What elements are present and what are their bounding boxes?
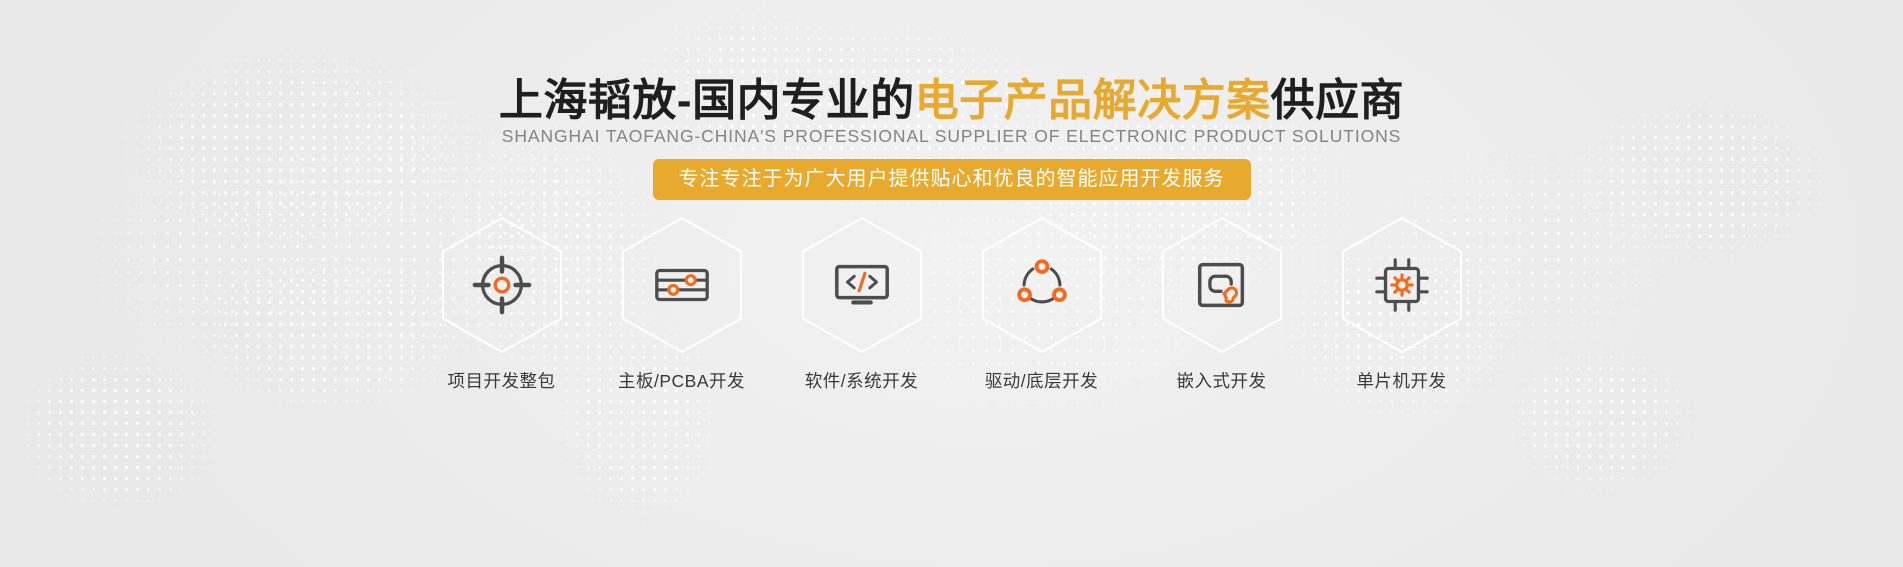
- hero-banner: 上海韬放-国内专业的电子产品解决方案供应商 SHANGHAI TAOFANG-C…: [0, 0, 1903, 567]
- chip-gear-icon: [1371, 254, 1433, 316]
- hexagon-frame: [620, 216, 744, 354]
- service-label: 项目开发整包: [448, 368, 556, 393]
- hexagon-frame: [800, 216, 924, 354]
- service-item-embedded[interactable]: 嵌入式开发: [1141, 216, 1303, 393]
- hexagon-frame: [440, 216, 564, 354]
- hexagon-frame: [1340, 216, 1464, 354]
- service-label: 单片机开发: [1357, 368, 1447, 393]
- network-nodes-icon: [1011, 254, 1073, 316]
- service-label: 嵌入式开发: [1177, 368, 1267, 393]
- hexagon-frame: [980, 216, 1104, 354]
- tagline-badge: 专注专注于为广大用户提供贴心和优良的智能应用开发服务: [653, 159, 1251, 200]
- embedded-link-icon: [1191, 254, 1253, 316]
- headline-part-2: 供应商: [1271, 76, 1405, 125]
- service-item-mcu[interactable]: 单片机开发: [1321, 216, 1483, 393]
- page-subtitle: SHANGHAI TAOFANG-CHINA'S PROFESSIONAL SU…: [0, 126, 1903, 147]
- service-item-project-package[interactable]: 项目开发整包: [421, 216, 583, 393]
- headline-accent: 电子产品解决方案: [915, 76, 1271, 125]
- service-list: 项目开发整包: [0, 216, 1903, 393]
- tagline-container: 专注专注于为广大用户提供贴心和优良的智能应用开发服务: [0, 159, 1903, 200]
- banner-content: 上海韬放-国内专业的电子产品解决方案供应商 SHANGHAI TAOFANG-C…: [0, 0, 1903, 567]
- hexagon-frame: [1160, 216, 1284, 354]
- monitor-code-icon: [831, 254, 893, 316]
- service-item-driver[interactable]: 驱动/底层开发: [961, 216, 1123, 393]
- service-label: 驱动/底层开发: [985, 368, 1098, 393]
- service-label: 软件/系统开发: [805, 368, 918, 393]
- circuit-board-icon: [651, 254, 713, 316]
- service-label: 主板/PCBA开发: [618, 368, 745, 393]
- headline-part-1: 上海韬放-国内专业的: [499, 76, 915, 125]
- target-icon: [471, 254, 533, 316]
- service-item-software[interactable]: 软件/系统开发: [781, 216, 943, 393]
- page-title: 上海韬放-国内专业的电子产品解决方案供应商: [0, 77, 1903, 125]
- service-item-pcba[interactable]: 主板/PCBA开发: [601, 216, 763, 393]
